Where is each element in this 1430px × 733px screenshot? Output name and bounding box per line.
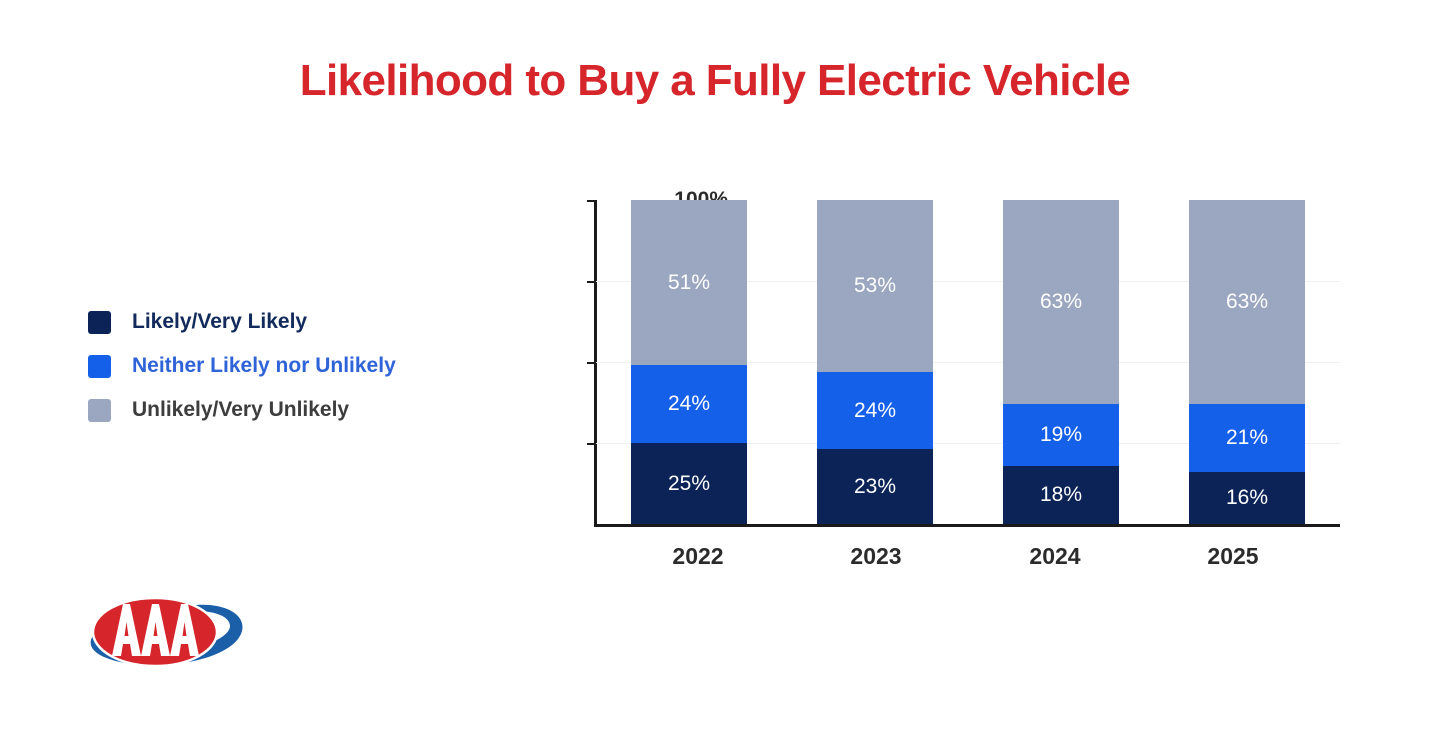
legend-item-unlikely[interactable]: Unlikely/Very Unlikely [88,388,488,432]
bar-group-2022[interactable]: 51% 24% 25% [631,200,747,524]
legend-label-unlikely: Unlikely/Very Unlikely [132,398,349,422]
y-tick-mark-25 [587,443,595,445]
chart-plot-area: 100% 75% 50% 25% 51% 24% 25% 53% 24% 23% [596,200,1340,524]
bar-value-label: 53% [854,274,896,298]
bar-value-label: 24% [854,399,896,423]
bar-segment-unlikely-2022[interactable]: 51% [631,200,747,365]
legend-swatch-neither [88,355,111,378]
bar-group-2023[interactable]: 53% 24% 23% [817,200,933,524]
bar-value-label: 21% [1226,426,1268,450]
x-tick-label-2022: 2022 [618,543,778,570]
legend-swatch-likely [88,311,111,334]
y-tick-mark-100 [587,200,595,202]
legend-item-likely[interactable]: Likely/Very Likely [88,300,488,344]
chart-legend: Likely/Very Likely Neither Likely nor Un… [88,300,488,432]
bar-segment-unlikely-2024[interactable]: 63% [1003,200,1119,404]
bar-value-label: 63% [1226,290,1268,314]
bar-segment-neither-2025[interactable]: 21% [1189,404,1305,472]
bar-segment-likely-2023[interactable]: 23% [817,449,933,524]
bar-value-label: 63% [1040,290,1082,314]
legend-item-neither[interactable]: Neither Likely nor Unlikely [88,344,488,388]
bar-value-label: 16% [1226,486,1268,510]
bar-value-label: 25% [668,472,710,496]
y-tick-mark-75 [587,281,595,283]
bar-series-container: 51% 24% 25% 53% 24% 23% 63% [596,200,1340,524]
bar-segment-neither-2024[interactable]: 19% [1003,404,1119,466]
bar-value-label: 23% [854,475,896,499]
bar-segment-likely-2025[interactable]: 16% [1189,472,1305,524]
bar-value-label: 19% [1040,423,1082,447]
bar-value-label: 51% [668,271,710,295]
bar-segment-likely-2024[interactable]: 18% [1003,466,1119,524]
bar-value-label: 24% [668,392,710,416]
bar-segment-neither-2022[interactable]: 24% [631,365,747,443]
x-tick-label-2025: 2025 [1153,543,1313,570]
y-tick-mark-50 [587,362,595,364]
bar-value-label: 18% [1040,483,1082,507]
bar-segment-likely-2022[interactable]: 25% [631,443,747,524]
x-tick-label-2023: 2023 [796,543,956,570]
page-title: Likelihood to Buy a Fully Electric Vehic… [0,56,1430,106]
legend-label-neither: Neither Likely nor Unlikely [132,354,396,378]
legend-swatch-unlikely [88,399,111,422]
legend-label-likely: Likely/Very Likely [132,310,307,334]
bar-segment-unlikely-2025[interactable]: 63% [1189,200,1305,404]
bar-segment-neither-2023[interactable]: 24% [817,372,933,450]
bar-group-2025[interactable]: 63% 21% 16% [1189,200,1305,524]
bar-group-2024[interactable]: 63% 19% 18% [1003,200,1119,524]
aaa-logo [78,583,246,691]
x-axis-line [594,524,1340,527]
x-tick-label-2024: 2024 [975,543,1135,570]
bar-segment-unlikely-2023[interactable]: 53% [817,200,933,372]
